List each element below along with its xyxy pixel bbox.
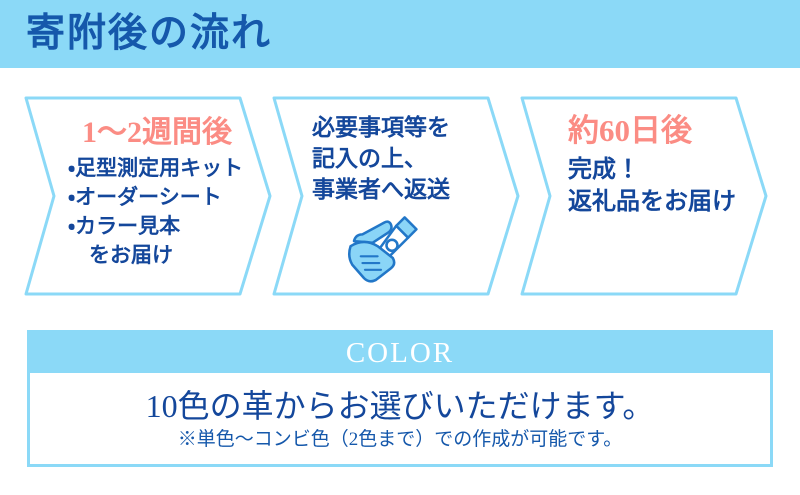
flow-step-2-line-3: 事業者へ返送 xyxy=(312,174,450,205)
flow-step-2-line-1: 必要事項等を xyxy=(312,112,450,143)
color-panel-body: 10色の革からお選びいただけます。 ※単色〜コンビ色（2色まで）での作成が可能で… xyxy=(30,373,770,464)
page-title: 寄附後の流れ xyxy=(26,8,272,60)
flow-step-1-line-4: をお届け xyxy=(68,241,243,270)
flow-step-2: 必要事項等を 記入の上、 事業者へ返送 xyxy=(272,96,520,296)
flow-step-1-line-3: ・カラー見本 xyxy=(68,212,243,241)
flow-step-2-line-2: 記入の上、 xyxy=(312,143,450,174)
color-panel: COLOR 10色の革からお選びいただけます。 ※単色〜コンビ色（2色まで）での… xyxy=(27,330,773,467)
flow-step-3-line-1: 完成！ xyxy=(568,154,736,186)
flow-step-1: 1〜2週間後 ・足型測定用キット ・オーダーシート ・カラー見本 をお届け xyxy=(24,96,272,296)
color-panel-note-text: ※単色〜コンビ色（2色まで）での作成が可能です。 xyxy=(178,427,623,453)
flow-step-2-lines: 必要事項等を 記入の上、 事業者へ返送 xyxy=(312,112,450,205)
flow-step-3-content: 約60日後 完成！ 返礼品をお届け xyxy=(564,96,752,296)
color-panel-main-text: 10色の革からお選びいただけます。 xyxy=(146,386,655,426)
color-panel-header-bar: COLOR xyxy=(30,333,770,373)
flow-step-1-heading: 1〜2週間後 xyxy=(82,116,232,150)
page-header-band: 寄附後の流れ xyxy=(0,0,800,68)
flow-steps-row: 1〜2週間後 ・足型測定用キット ・オーダーシート ・カラー見本 をお届け 必要… xyxy=(0,96,800,296)
flow-step-1-line-1: ・足型測定用キット xyxy=(68,154,243,183)
flow-step-2-content: 必要事項等を 記入の上、 事業者へ返送 xyxy=(312,96,502,296)
flow-step-1-line-2: ・オーダーシート xyxy=(68,183,243,212)
hand-writing-pen-icon xyxy=(338,209,424,285)
flow-step-1-lines: ・足型測定用キット ・オーダーシート ・カラー見本 をお届け xyxy=(68,154,243,270)
flow-step-3-heading: 約60日後 xyxy=(568,114,692,148)
flow-step-3-lines: 完成！ 返礼品をお届け xyxy=(568,154,736,218)
color-panel-title: COLOR xyxy=(346,337,454,369)
flow-step-3: 約60日後 完成！ 返礼品をお届け xyxy=(520,96,768,296)
flow-step-1-content: 1〜2週間後 ・足型測定用キット ・オーダーシート ・カラー見本 をお届け xyxy=(58,96,250,296)
flow-step-3-line-2: 返礼品をお届け xyxy=(568,186,736,218)
